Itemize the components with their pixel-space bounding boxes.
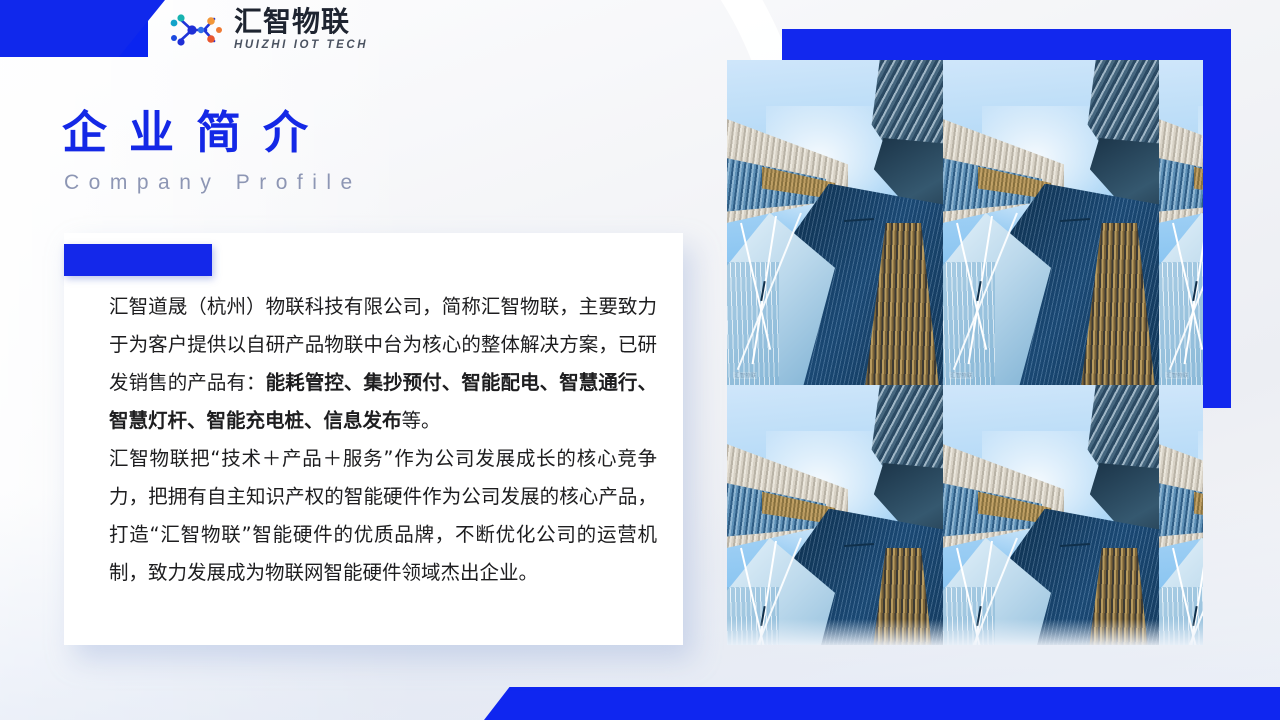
photo-watermark: 汇智物联 — [1165, 372, 1189, 379]
logo-name-en: HUIZHI IOT TECH — [234, 40, 368, 52]
brand-logo: 汇智物联 HUIZHI IOT TECH — [168, 8, 368, 52]
photo-tile: 汇智物联 — [727, 60, 943, 385]
skyscraper-scene: 汇智物联 — [1159, 385, 1203, 645]
photo-tile: 汇智物联 — [1159, 385, 1203, 645]
page-subtitle: Company Profile — [64, 171, 362, 195]
logo-name-cn: 汇智物联 — [234, 8, 368, 36]
photo-tile: 汇智物联 — [943, 385, 1159, 645]
paragraph-1: 汇智道晟（杭州）物联科技有限公司，简称汇智物联，主要致力于为客户提供以自研产品物… — [109, 288, 657, 440]
card-accent-bar — [64, 244, 212, 276]
paragraph-2-run-1: 汇智物联把“技术＋产品＋服务”作为公司发展成长的核心竞争力，把拥有自主知识产权的… — [109, 447, 657, 584]
paragraph-2: 汇智物联把“技术＋产品＋服务”作为公司发展成长的核心竞争力，把拥有自主知识产权的… — [109, 440, 657, 592]
paragraph-1-run-3: 等。 — [402, 409, 441, 432]
photo-tile: 汇智物联 — [1159, 60, 1203, 385]
photo-watermark: 汇智物联 — [733, 372, 757, 379]
skyscraper-scene: 汇智物联 — [727, 385, 943, 645]
photo-collage: 汇智物联 汇智物联 — [727, 60, 1203, 645]
skyscraper-scene: 汇智物联 — [943, 60, 1159, 385]
photo-watermark: 汇智物联 — [949, 372, 973, 379]
skyscraper-scene: 汇智物联 — [1159, 60, 1203, 385]
skyscraper-scene: 汇智物联 — [943, 385, 1159, 645]
photo-tile: 汇智物联 — [727, 385, 943, 645]
page-title: 企业简介 — [62, 96, 330, 161]
slide-canvas: 汇智物联 HUIZHI IOT TECH 企业简介 Company Profil… — [0, 0, 1280, 720]
photo-tile: 汇智物联 — [943, 60, 1159, 385]
molecule-network-icon — [168, 9, 226, 51]
skyscraper-scene: 汇智物联 — [727, 60, 943, 385]
bottom-blue-slanted-bar — [484, 687, 1280, 720]
card-body-text: 汇智道晟（杭州）物联科技有限公司，简称汇智物联，主要致力于为客户提供以自研产品物… — [109, 288, 657, 592]
company-profile-card: 汇智道晟（杭州）物联科技有限公司，简称汇智物联，主要致力于为客户提供以自研产品物… — [64, 233, 683, 645]
